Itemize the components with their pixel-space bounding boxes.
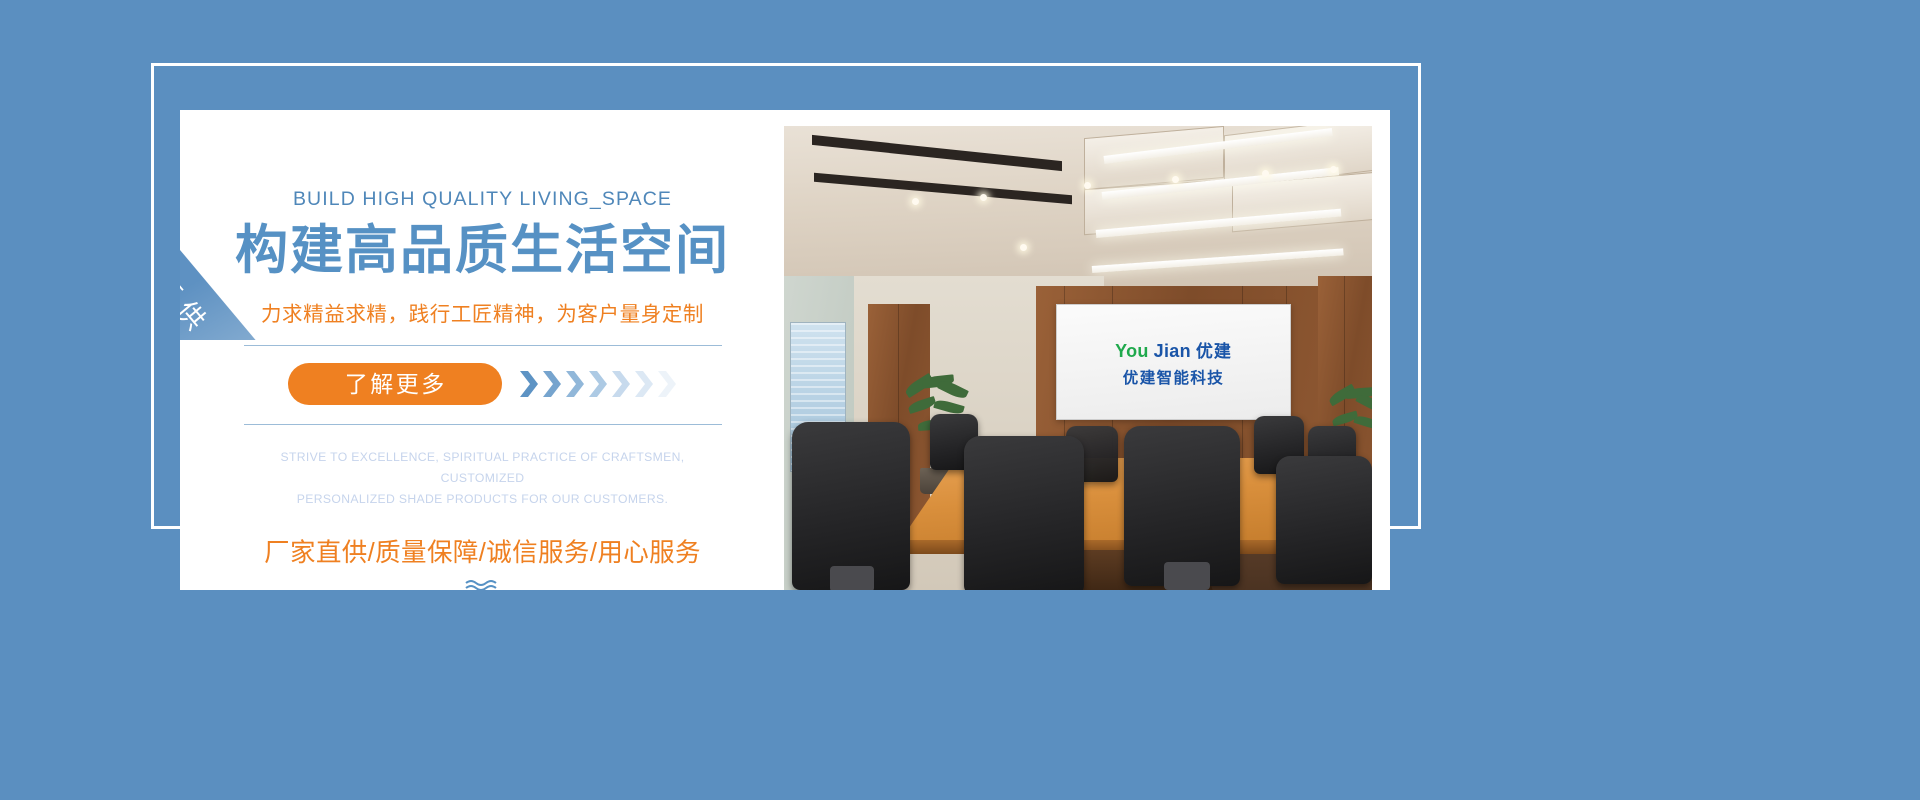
chair-leg	[830, 566, 874, 590]
chair-near-center	[964, 436, 1084, 590]
cta-row: 了解更多	[180, 363, 785, 405]
bottom-tagline: 厂家直供/质量保障/诚信服务/用心服务	[180, 532, 785, 569]
logo-you-text: You	[1115, 341, 1149, 362]
chair-near-left	[792, 422, 910, 590]
wave-icon-wrap	[180, 579, 785, 590]
wave-icon	[465, 579, 501, 590]
page-title: 构建高品质生活空间	[180, 221, 785, 282]
chevron-right-icon	[610, 369, 632, 399]
english-paragraph-line1: STRIVE TO EXCELLENCE, SPIRITUAL PRACTICE…	[248, 447, 718, 489]
subtitle: 力求精益求精，践行工匠精神，为客户量身定制	[180, 297, 785, 327]
chevron-right-icon	[518, 369, 540, 399]
english-paragraph: STRIVE TO EXCELLENCE, SPIRITUAL PRACTICE…	[248, 447, 718, 510]
divider-bottom	[244, 424, 722, 425]
chevron-right-icon	[587, 369, 609, 399]
chair-near-far-right	[1276, 456, 1372, 584]
chevron-right-icon	[633, 369, 655, 399]
logo-cn-short-text: 优建	[1196, 337, 1232, 362]
logo-jian-text: Jian	[1154, 341, 1191, 362]
chevron-right-icon	[541, 369, 563, 399]
screen-logo-secondary: 优建智能科技	[1123, 366, 1224, 388]
conference-room-photo: You Jian 优建 优建智能科技	[784, 126, 1372, 590]
chevron-right-icon	[564, 369, 586, 399]
chevron-right-icon	[656, 369, 678, 399]
divider-top	[244, 345, 722, 346]
chevron-arrow-group	[518, 369, 678, 399]
learn-more-button[interactable]: 了解更多	[288, 363, 502, 405]
english-paragraph-line2: PERSONALIZED SHADE PRODUCTS FOR OUR CUST…	[248, 489, 718, 510]
english-tagline: BUILD HIGH QUALITY LIVING_SPACE	[180, 188, 785, 211]
projection-screen: You Jian 优建 优建智能科技	[1056, 304, 1291, 420]
banner-text-column: BUILD HIGH QUALITY LIVING_SPACE 构建高品质生活空…	[180, 110, 785, 590]
chair-leg	[1164, 562, 1210, 590]
screen-logo-primary: You Jian 优建	[1115, 337, 1232, 362]
banner-card: 厂家直供 BUILD HIGH QUALITY LIVING_SPACE 构建高…	[180, 110, 1390, 590]
